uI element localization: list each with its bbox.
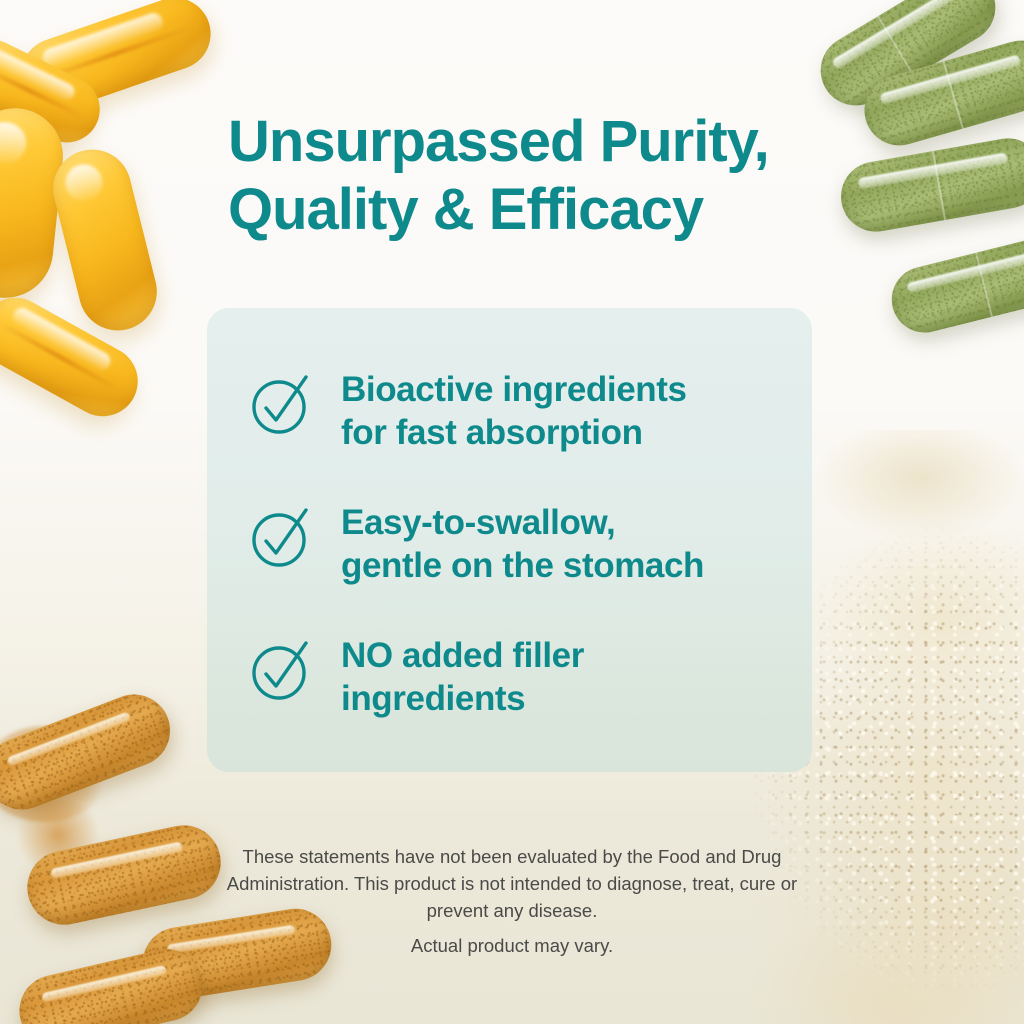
- softgel-capsule: [12, 0, 221, 120]
- softgel-capsule: [0, 285, 150, 429]
- golden-capsule: [12, 942, 209, 1024]
- benefit-item-no-fillers: NO added filler ingredients: [248, 634, 584, 720]
- check-circle-icon: [248, 636, 314, 702]
- check-circle-icon: [248, 503, 314, 569]
- product-variation-note: Actual product may vary.: [212, 932, 812, 959]
- green-capsule: [835, 133, 1024, 237]
- benefit-label: Bioactive ingredients for fast absorptio…: [341, 368, 687, 454]
- golden-capsule: [20, 818, 227, 931]
- check-circle-icon: [248, 370, 314, 436]
- promo-graphic: Unsurpassed Purity, Quality & Efficacy B…: [0, 0, 1024, 1024]
- fda-disclaimer: These statements have not been evaluated…: [212, 843, 812, 924]
- green-capsule: [808, 0, 1009, 118]
- green-capsule: [856, 32, 1024, 153]
- softgel-capsule: [0, 28, 111, 153]
- spilled-powder: [0, 726, 108, 822]
- benefit-item-bioactive: Bioactive ingredients for fast absorptio…: [248, 368, 687, 454]
- benefit-label: Easy-to-swallow, gentle on the stomach: [341, 501, 704, 587]
- golden-capsule: [0, 684, 181, 820]
- benefits-card: Bioactive ingredients for fast absorptio…: [207, 308, 812, 772]
- softgel-capsule: [0, 104, 68, 303]
- softgel-capsule: [45, 141, 165, 338]
- page-title: Unsurpassed Purity, Quality & Efficacy: [228, 108, 828, 244]
- spilled-powder: [12, 800, 104, 870]
- green-capsule: [885, 230, 1024, 339]
- page-title-line-1: Unsurpassed Purity,: [228, 108, 828, 176]
- benefit-label: NO added filler ingredients: [341, 634, 584, 720]
- benefit-item-easy-swallow: Easy-to-swallow, gentle on the stomach: [248, 501, 704, 587]
- page-title-line-2: Quality & Efficacy: [228, 176, 828, 244]
